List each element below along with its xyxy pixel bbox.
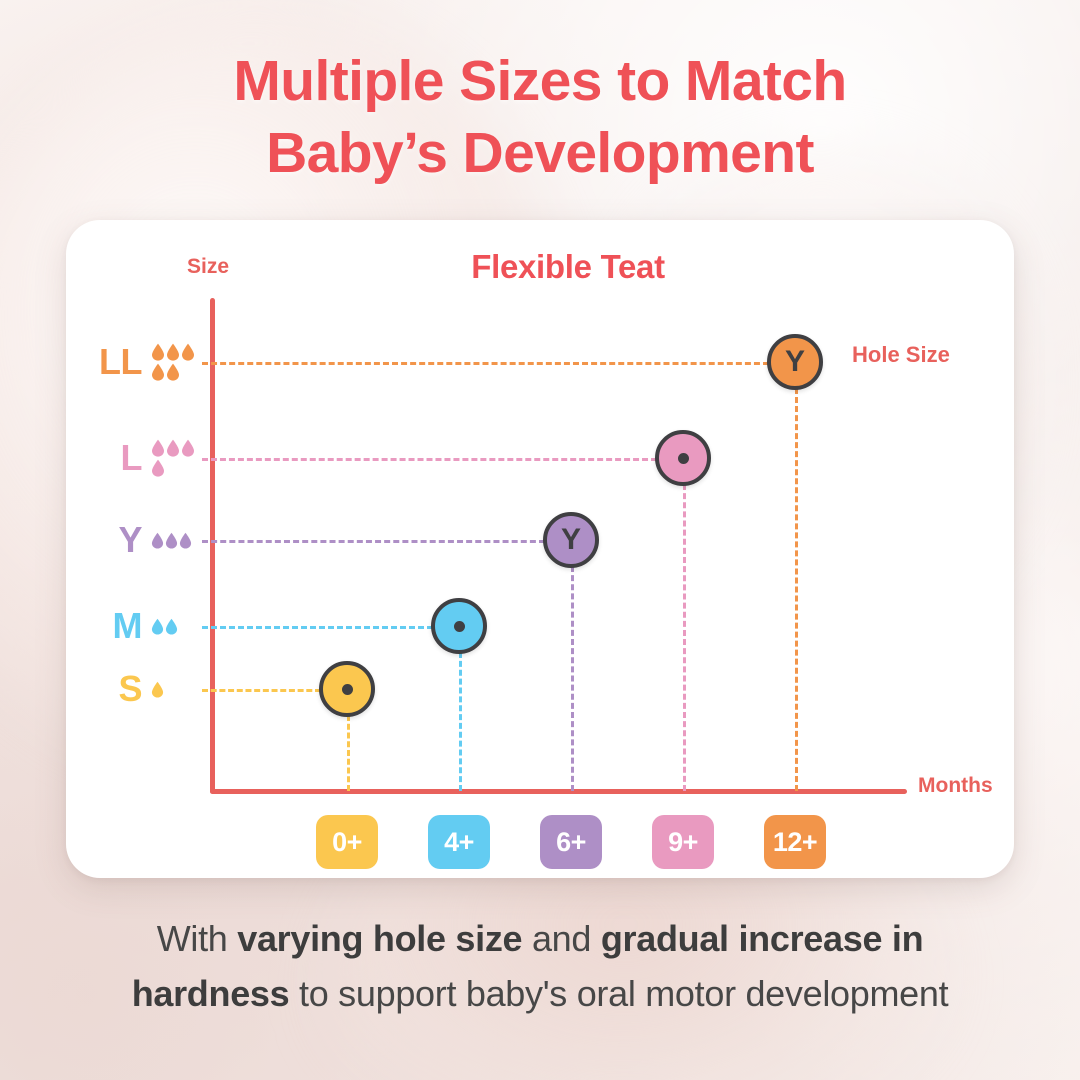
hardness-droplets-y — [151, 532, 197, 549]
y-axis-row-l: L — [96, 427, 214, 489]
hardness-droplets-ll — [151, 343, 197, 381]
droplet-icon — [151, 532, 164, 549]
caption-text-2: and — [522, 918, 601, 959]
droplet-icon — [151, 459, 165, 477]
guide-line-horizontal-l — [202, 458, 657, 461]
hardness-droplets-l — [151, 439, 197, 477]
y-axis-row-ll: LL — [96, 331, 214, 393]
caption-text-1: With — [157, 918, 238, 959]
chart-plot-area: Size Months Hole Size LLLYMS YY 0+4+6+9+… — [66, 220, 1014, 878]
droplet-icon — [179, 532, 192, 549]
round-hole-icon — [678, 453, 689, 464]
droplet-icon — [151, 439, 165, 457]
round-hole-icon — [342, 684, 353, 695]
caption-bold-1: varying hole size — [237, 918, 522, 959]
guide-line-horizontal-m — [202, 626, 433, 629]
chart-card: Flexible Teat Size Months Hole Size LLLY… — [66, 220, 1014, 878]
droplet-icon — [165, 532, 178, 549]
size-label-y: Y — [96, 522, 142, 558]
droplet-icon — [151, 681, 164, 698]
month-badge-12plus[interactable]: 12+ — [764, 815, 826, 869]
round-hole-icon — [454, 621, 465, 632]
guide-line-vertical-6plus — [571, 566, 574, 791]
month-badge-9plus[interactable]: 9+ — [652, 815, 714, 869]
hardness-droplets-s — [151, 681, 169, 698]
y-cut-hole-icon: Y — [785, 347, 805, 377]
droplet-icon — [166, 363, 180, 381]
hole-size-label: Hole Size — [852, 342, 950, 368]
page-title-line-2: Baby’s Development — [0, 118, 1080, 190]
guide-line-vertical-12plus — [795, 388, 798, 791]
y-axis-row-s: S — [96, 658, 214, 720]
guide-line-vertical-0plus — [347, 715, 350, 791]
data-point-m-4plus[interactable] — [431, 598, 487, 654]
y-axis-row-y: Y — [96, 509, 214, 571]
month-badge-6plus[interactable]: 6+ — [540, 815, 602, 869]
footer-caption-line-2: hardness to support baby's oral motor de… — [48, 967, 1032, 1022]
droplet-icon — [151, 363, 165, 381]
droplet-icon — [166, 343, 180, 361]
footer-caption-line-1: With varying hole size and gradual incre… — [48, 912, 1032, 967]
size-label-ll: LL — [96, 344, 142, 380]
page-title: Multiple Sizes to Match Baby’s Developme… — [0, 46, 1080, 190]
droplet-icon — [181, 439, 195, 457]
data-point-l-9plus[interactable] — [655, 430, 711, 486]
month-badge-0plus[interactable]: 0+ — [316, 815, 378, 869]
size-label-s: S — [96, 671, 142, 707]
data-point-s-0plus[interactable] — [319, 661, 375, 717]
guide-line-horizontal-y — [202, 540, 545, 543]
guide-line-vertical-4plus — [459, 652, 462, 791]
droplet-icon — [151, 618, 164, 635]
guide-line-vertical-9plus — [683, 484, 686, 791]
caption-bold-3: hardness — [132, 973, 290, 1014]
y-axis-row-m: M — [96, 595, 214, 657]
data-point-y-6plus[interactable]: Y — [543, 512, 599, 568]
droplet-icon — [166, 439, 180, 457]
page-title-line-1: Multiple Sizes to Match — [0, 46, 1080, 118]
y-cut-hole-icon: Y — [561, 525, 581, 555]
caption-bold-2: gradual increase in — [601, 918, 923, 959]
droplet-icon — [181, 343, 195, 361]
data-point-ll-12plus[interactable]: Y — [767, 334, 823, 390]
footer-caption: With varying hole size and gradual incre… — [0, 912, 1080, 1021]
guide-line-horizontal-s — [202, 689, 321, 692]
x-axis-line — [210, 789, 907, 794]
caption-text-3: to support baby's oral motor development — [289, 973, 948, 1014]
y-axis-label: Size — [187, 255, 229, 279]
month-badge-4plus[interactable]: 4+ — [428, 815, 490, 869]
droplet-icon — [165, 618, 178, 635]
x-axis-label: Months — [918, 774, 993, 798]
hardness-droplets-m — [151, 618, 183, 635]
size-label-l: L — [96, 440, 142, 476]
size-label-m: M — [96, 608, 142, 644]
droplet-icon — [151, 343, 165, 361]
guide-line-horizontal-ll — [202, 362, 769, 365]
